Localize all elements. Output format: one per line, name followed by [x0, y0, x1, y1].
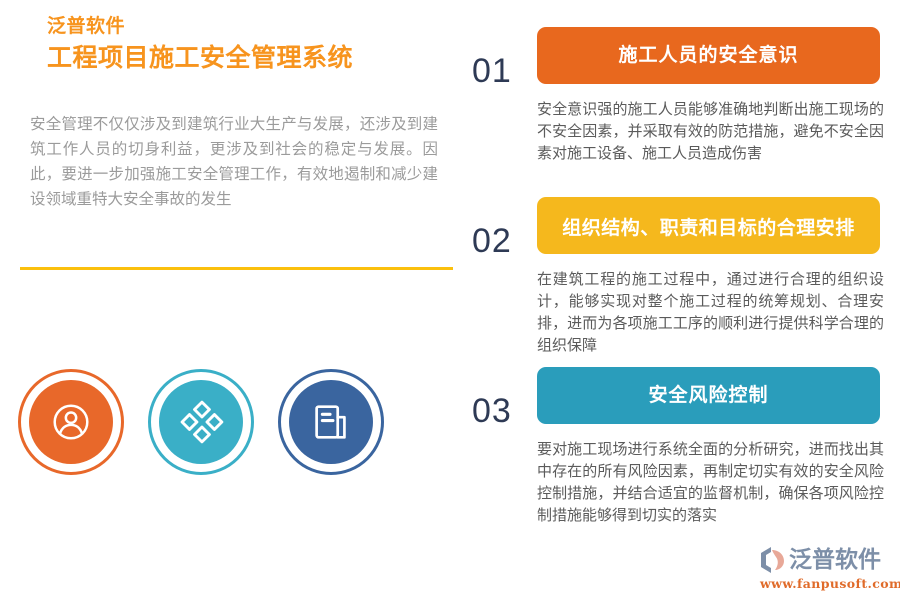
- item-body: 在建筑工程的施工过程中，通过进行合理的组织设计，能够实现对整个施工过程的统筹规划…: [537, 268, 884, 356]
- item-title-pill[interactable]: 组织结构、职责和目标的合理安排: [537, 197, 880, 254]
- system-title: 工程项目施工安全管理系统: [47, 41, 447, 74]
- intro-paragraph: 安全管理不仅仅涉及到建筑行业大生产与发展，还涉及到建筑工作人员的切身利益，更涉及…: [30, 112, 438, 212]
- feature-icon-row: [0, 370, 465, 480]
- item-title: 施工人员的安全意识: [537, 42, 880, 69]
- feature-circle-document[interactable]: [279, 370, 383, 474]
- diamond-grid-icon: [178, 399, 224, 445]
- item-body: 要对施工现场进行系统全面的分析研究，进而找出其中存在的所有风险因素，再制定切实有…: [537, 438, 884, 526]
- item-title: 安全风险控制: [537, 382, 880, 409]
- left-panel: 泛普软件 工程项目施工安全管理系统 安全管理不仅仅涉及到建筑行业大生产与发展，还…: [0, 0, 465, 600]
- user-icon: [48, 399, 94, 445]
- item-title-pill[interactable]: 安全风险控制: [537, 367, 880, 424]
- feature-circle-grid[interactable]: [149, 370, 253, 474]
- right-panel: 01 施工人员的安全意识 安全意识强的施工人员能够准确地判断出施工现场的不安全因…: [465, 0, 900, 600]
- item-number: 02: [472, 222, 512, 261]
- feature-circle-user[interactable]: [19, 370, 123, 474]
- brand-name: 泛普软件: [47, 14, 447, 39]
- page-title: 泛普软件 工程项目施工安全管理系统: [47, 14, 447, 74]
- item-title: 组织结构、职责和目标的合理安排: [537, 215, 880, 242]
- company-logo[interactable]: 泛普软件 www.fanpusoft.com: [757, 545, 897, 593]
- document-icon: [308, 399, 354, 445]
- logo-wordmark: 泛普软件: [789, 546, 881, 574]
- divider: [20, 267, 453, 270]
- logo-url: www.fanpusoft.com: [760, 576, 897, 591]
- item-number: 01: [472, 52, 512, 91]
- item-title-pill[interactable]: 施工人员的安全意识: [537, 27, 880, 84]
- logo-row: 泛普软件: [757, 545, 897, 575]
- item-number: 03: [472, 392, 512, 431]
- item-body: 安全意识强的施工人员能够准确地判断出施工现场的不安全因素，并采取有效的防范措施，…: [537, 98, 884, 164]
- fanpu-logo-mark: [757, 546, 787, 574]
